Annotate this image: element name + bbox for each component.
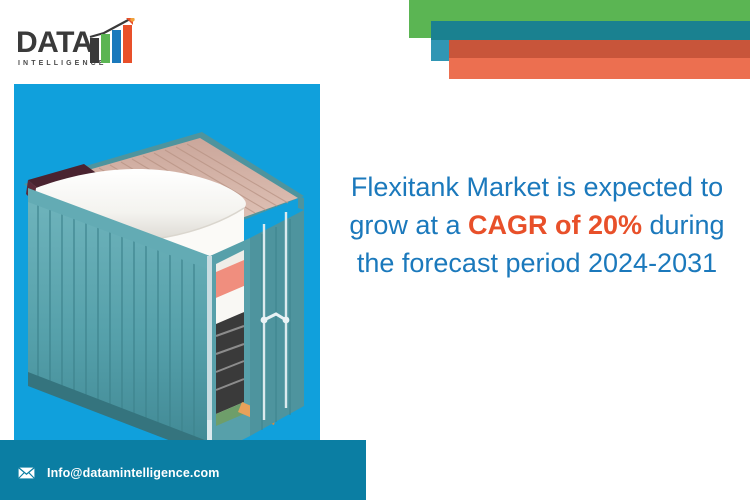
poster-canvas: DATA INTELLIGENCE <box>0 0 750 500</box>
envelope-icon <box>18 467 35 479</box>
brand-logo[interactable]: DATA INTELLIGENCE <box>16 12 146 72</box>
headline-line-4: forecast period 2024-2031 <box>402 248 717 278</box>
decorative-orange-bar <box>449 58 750 79</box>
footer-email-text[interactable]: Info@datamintelligence.com <box>47 466 219 480</box>
flexitank-shipping-container-illustration <box>14 84 320 453</box>
footer-contact[interactable]: Info@datamintelligence.com <box>18 466 219 480</box>
logo-wordmark: DATA <box>16 28 93 58</box>
headline-accent-cagr: CAGR of 20% <box>468 210 642 240</box>
bar-chart-growth-icon <box>88 18 136 64</box>
product-image-panel <box>14 84 320 453</box>
headline-text: Flexitank Market is expected to grow at … <box>330 168 744 282</box>
headline-line-1: Flexitank Market is <box>351 172 576 202</box>
